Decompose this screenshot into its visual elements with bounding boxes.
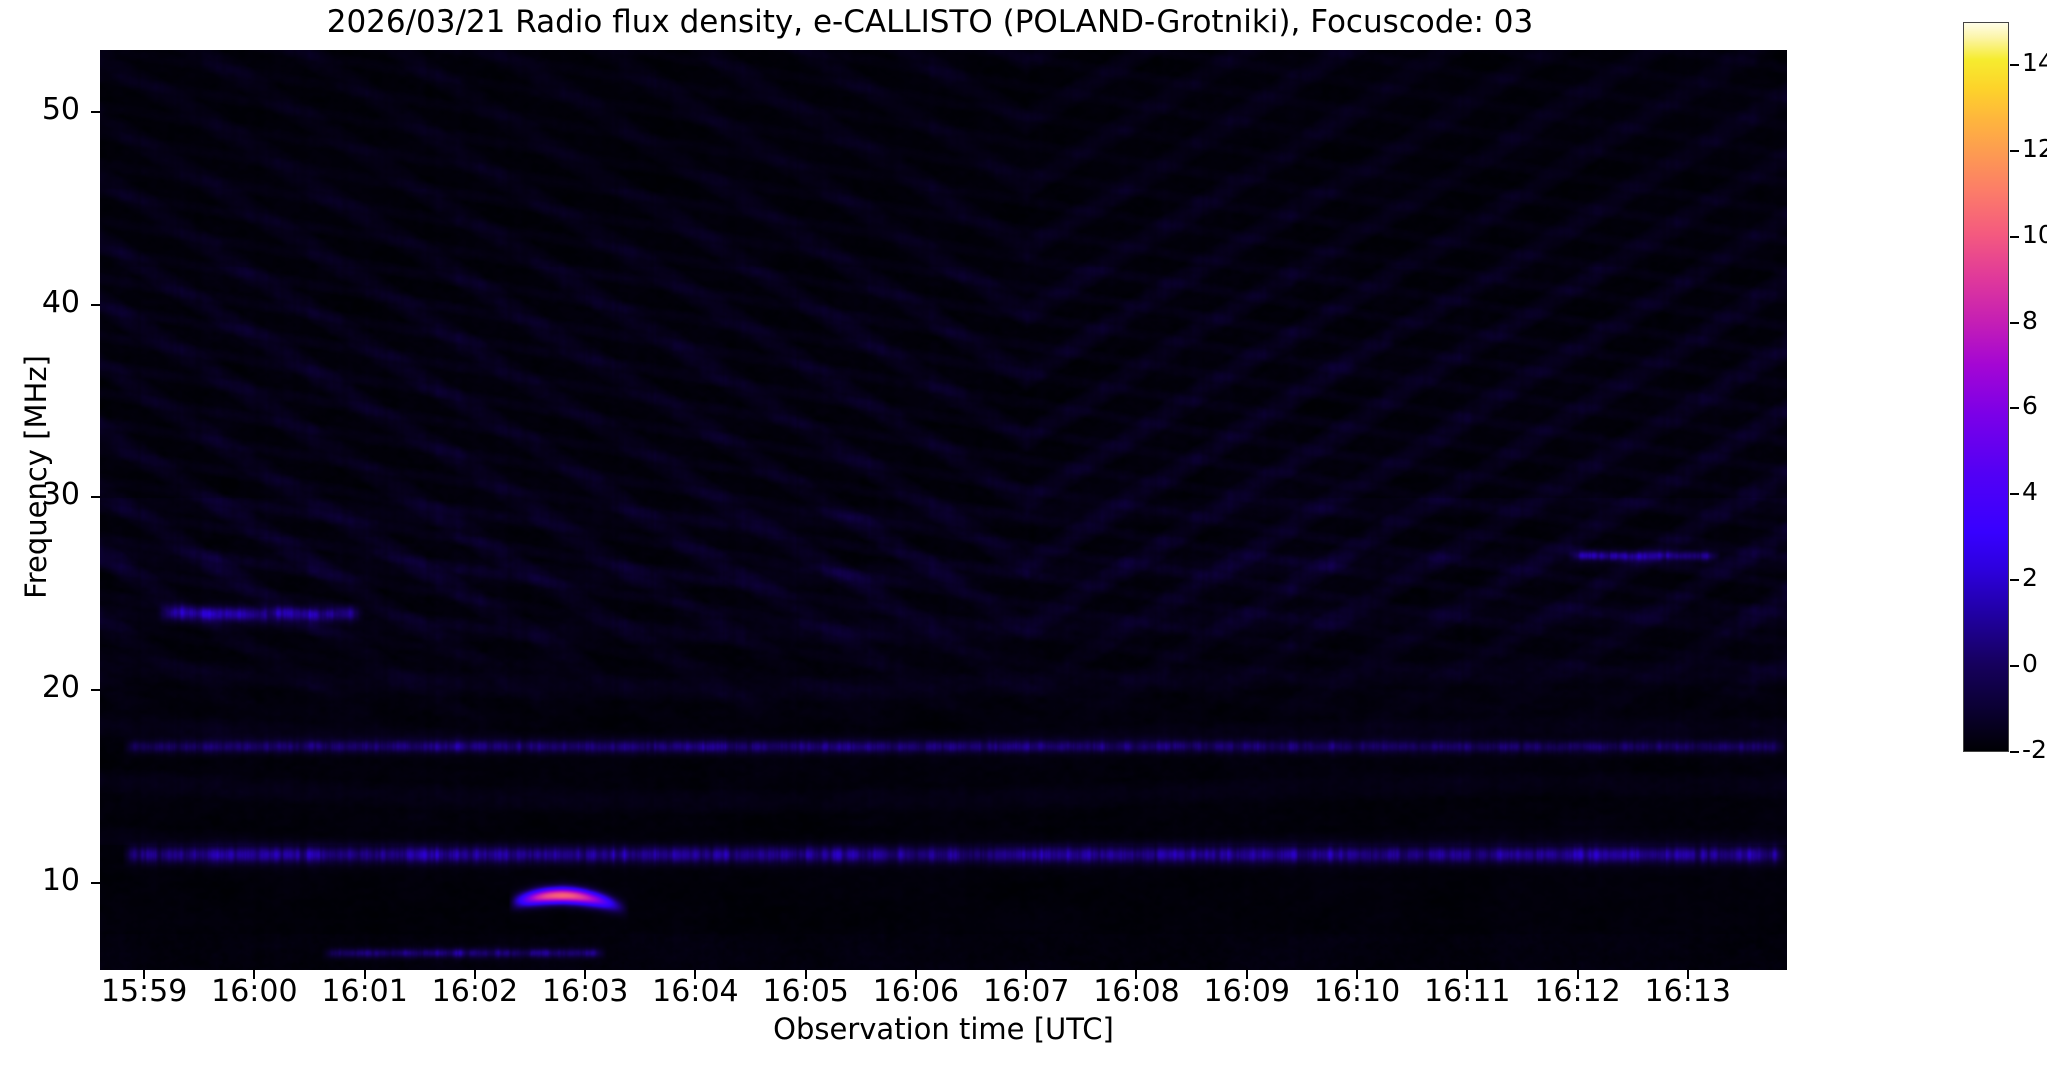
y-tick-label: 10 [0,863,80,898]
x-tick-label: 16:10 [1314,974,1400,1009]
x-tick-label: 16:05 [762,974,848,1009]
x-tick-label: 16:00 [211,974,297,1009]
x-tick-label: 16:07 [983,974,1069,1009]
x-tick-label: 16:12 [1534,974,1620,1009]
colorbar-tick-label: 10 [2022,220,2047,249]
colorbar-tick-label: 0 [2022,649,2038,678]
x-tick-label: 16:06 [873,974,959,1009]
x-tick-label: 16:13 [1645,974,1731,1009]
colorbar-tick-label: 8 [2022,306,2038,335]
x-tick-label: 16:08 [1093,974,1179,1009]
x-tick-label: 16:04 [652,974,738,1009]
colorbar-tick-mark [2010,236,2019,238]
colorbar-tick-mark [2010,322,2019,324]
colorbar-tick-mark [2010,751,2019,753]
colorbar-tick-mark [2010,150,2019,152]
y-tick-label: 50 [0,92,80,127]
y-tick-label: 40 [0,285,80,320]
colorbar-tick-label: 12 [2022,134,2047,163]
x-axis-label: Observation time [UTC] [100,1012,1787,1046]
colorbar-tick-mark [2010,64,2019,66]
y-tick-mark [91,496,100,498]
page-title: 2026/03/21 Radio flux density, e-CALLIST… [0,4,1860,40]
colorbar-tick-label: 4 [2022,477,2038,506]
colorbar-tick-label: -2 [2022,735,2047,764]
colorbar-tick-mark [2010,493,2019,495]
colorbar-tick-label: 6 [2022,391,2038,420]
y-tick-mark [91,111,100,113]
colorbar-tick-mark [2010,407,2019,409]
x-tick-label: 16:03 [542,974,628,1009]
spectrogram-image [100,50,1787,970]
colorbar-tick-mark [2010,579,2019,581]
x-tick-label: 16:11 [1424,974,1510,1009]
y-tick-mark [91,882,100,884]
colorbar-tick-label: 2 [2022,563,2038,592]
y-tick-mark [91,304,100,306]
y-tick-label: 30 [0,477,80,512]
spectrogram-plot-area [100,50,1787,970]
x-tick-label: 15:59 [101,974,187,1009]
y-tick-mark [91,689,100,691]
x-tick-label: 16:02 [432,974,518,1009]
x-tick-label: 16:09 [1203,974,1289,1009]
colorbar-gradient [1963,22,2009,752]
x-tick-label: 16:01 [321,974,407,1009]
colorbar-tick-mark [2010,665,2019,667]
colorbar-tick-label: 14 [2022,48,2047,77]
y-tick-label: 20 [0,670,80,705]
spectrogram-page: 2026/03/21 Radio flux density, e-CALLIST… [0,0,2047,1067]
